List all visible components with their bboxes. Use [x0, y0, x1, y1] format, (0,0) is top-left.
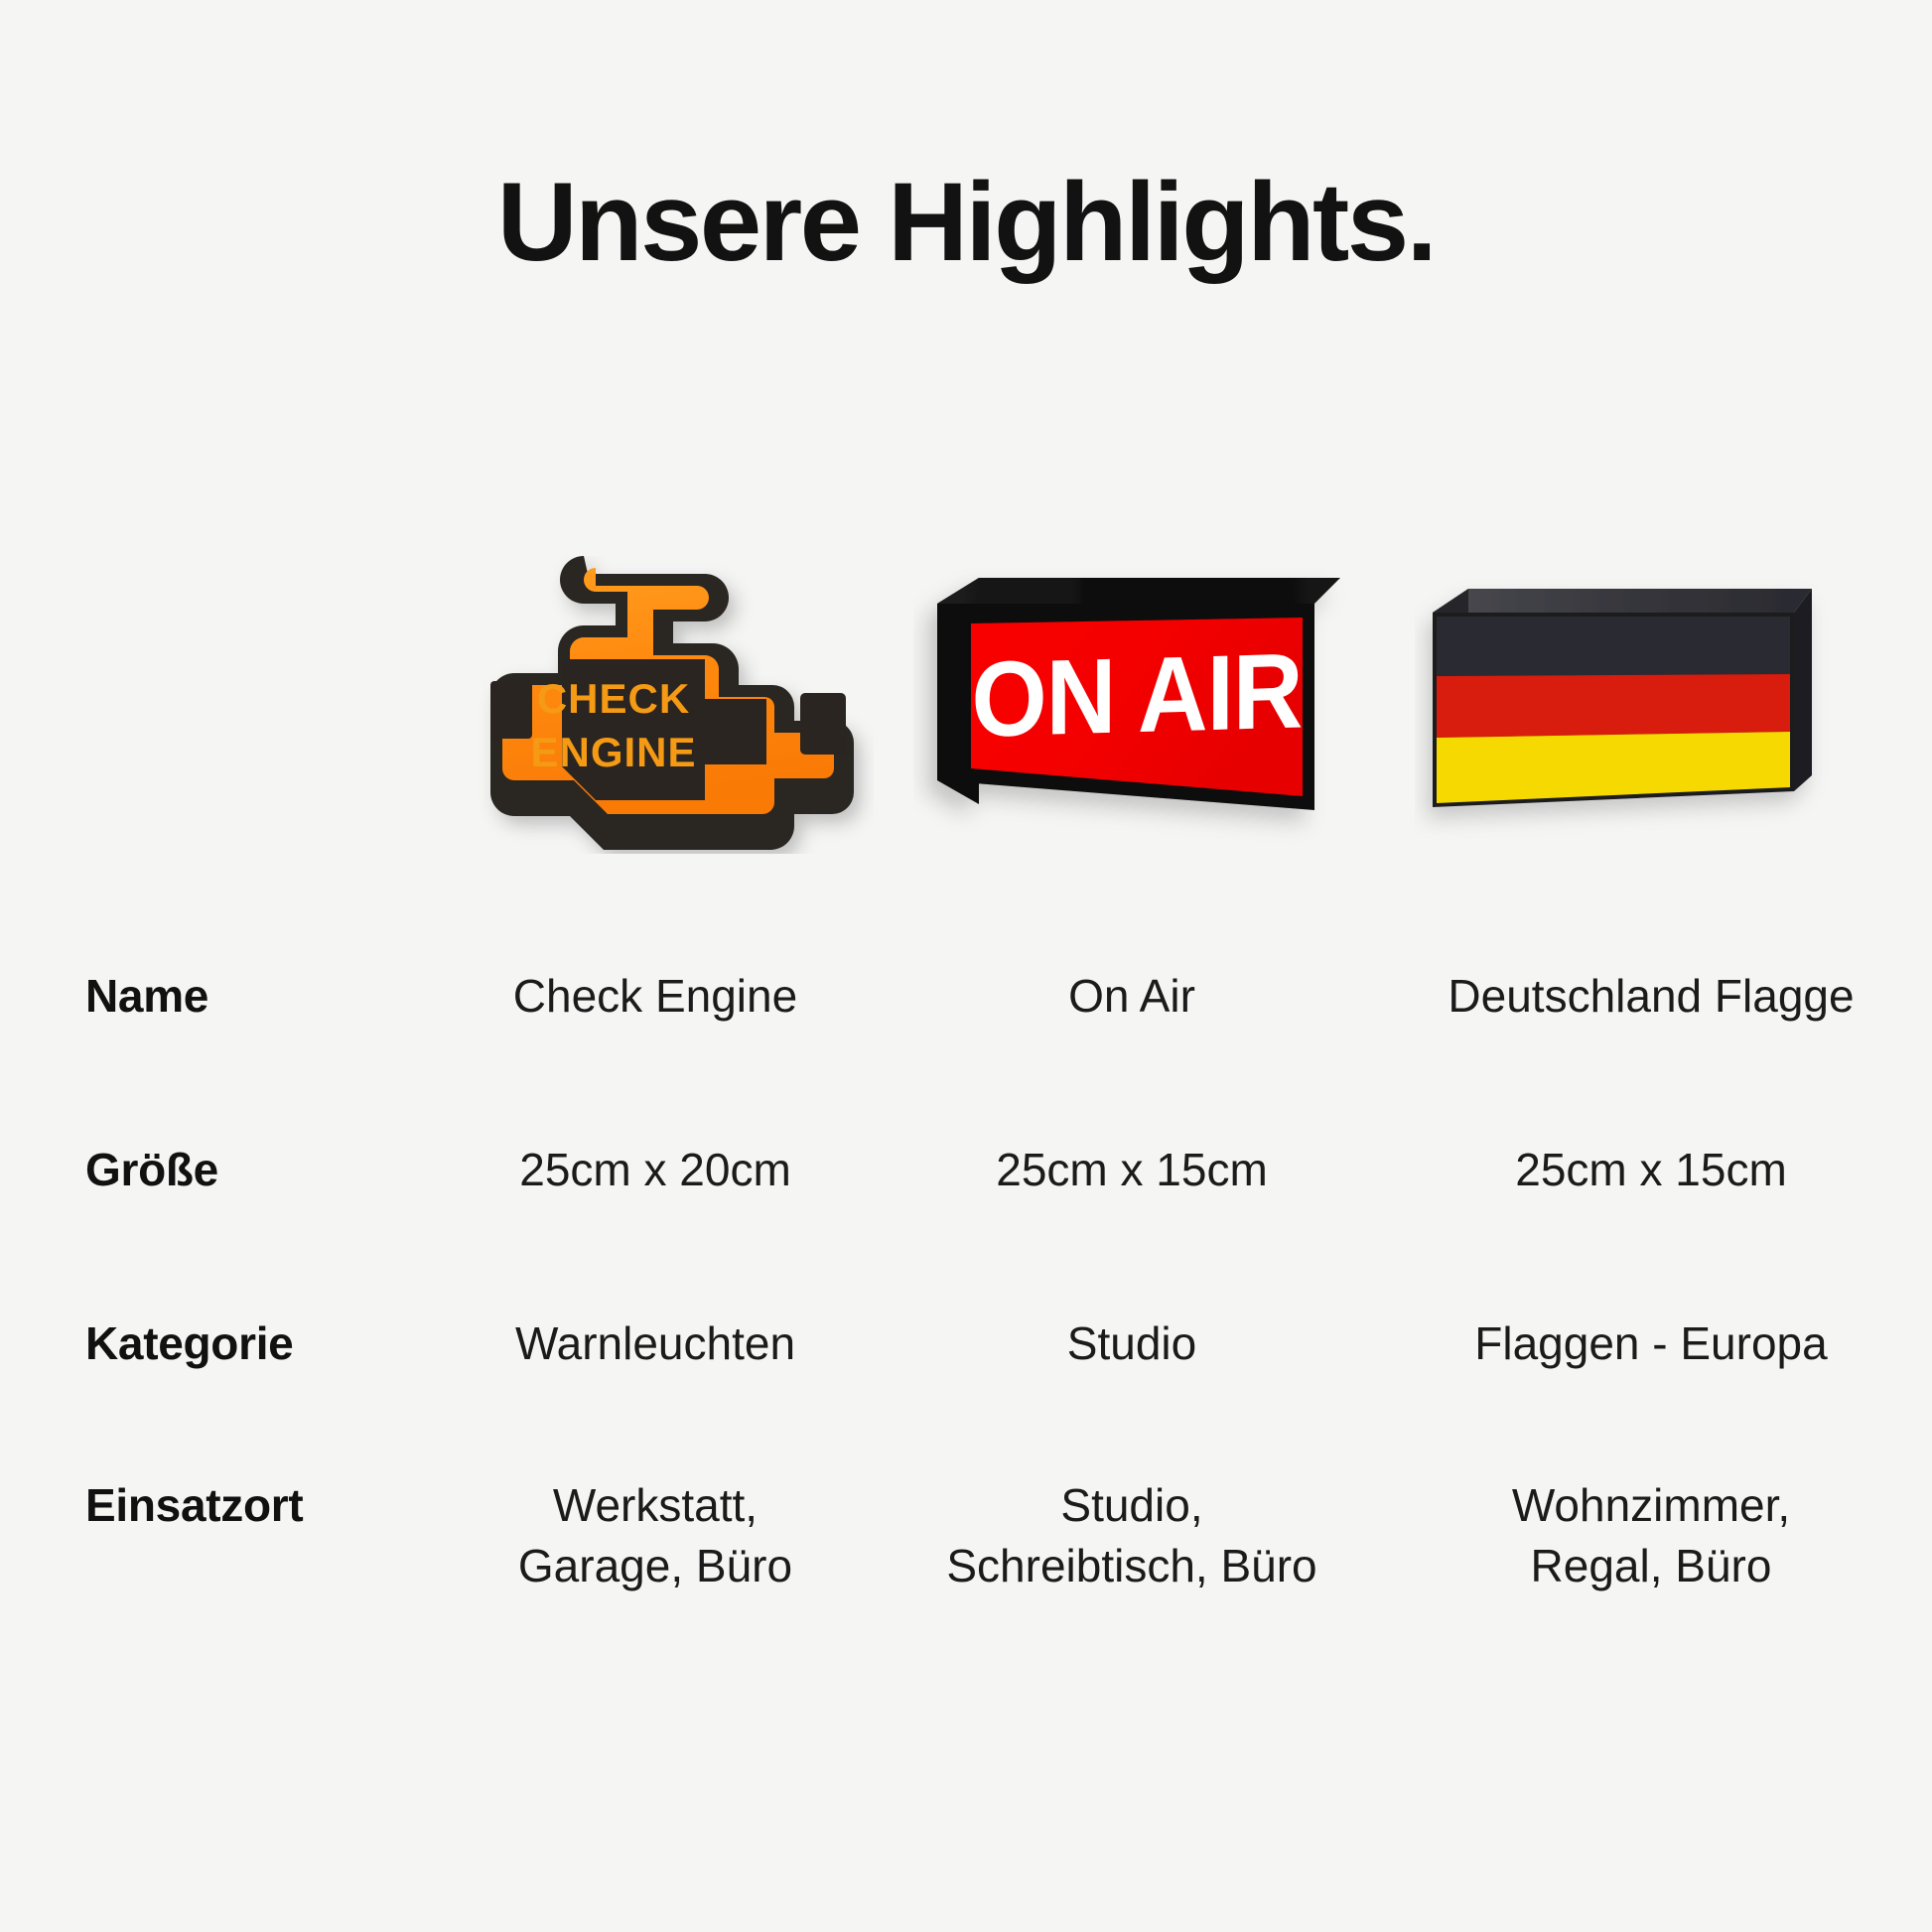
cell-einsatzort-check-engine: Werkstatt,Garage, Büro [417, 1449, 894, 1596]
table-row: Name Check Engine On Air Deutschland Fla… [0, 928, 1932, 1102]
cell-name-deutschland-flagge: Deutschland Flagge [1370, 928, 1932, 1027]
on-air-text: ON AIR [972, 630, 1303, 759]
table-row: Größe 25cm x 20cm 25cm x 15cm 25cm x 15c… [0, 1102, 1932, 1276]
product-image-strip: CHECK ENGINE [0, 526, 1932, 884]
cell-name-on-air: On Air [894, 928, 1370, 1027]
germany-flag-lightbox [1415, 561, 1832, 849]
table-row: Kategorie Warnleuchten Studio Flaggen - … [0, 1276, 1932, 1449]
cell-groesse-deutschland-flagge: 25cm x 15cm [1370, 1102, 1932, 1200]
check-engine-line2: ENGINE [530, 729, 696, 775]
row-label-einsatzort: Einsatzort [0, 1449, 417, 1536]
cell-kategorie-check-engine: Warnleuchten [417, 1276, 894, 1374]
row-label-groesse: Größe [0, 1102, 417, 1200]
page-title: Unsere Highlights. [0, 167, 1932, 278]
cell-groesse-check-engine: 25cm x 20cm [417, 1102, 894, 1200]
spec-table: Name Check Engine On Air Deutschland Fla… [0, 928, 1932, 1658]
row-label-kategorie: Kategorie [0, 1276, 417, 1374]
product-image-check-engine: CHECK ENGINE [417, 526, 913, 884]
row-label-name: Name [0, 928, 417, 1027]
cell-einsatzort-deutschland-flagge: Wohnzimmer,Regal, Büro [1370, 1449, 1932, 1596]
on-air-lightbox: ON AIR [913, 556, 1370, 854]
product-image-on-air: ON AIR [894, 526, 1390, 884]
cell-kategorie-on-air: Studio [894, 1276, 1370, 1374]
cell-name-check-engine: Check Engine [417, 928, 894, 1027]
cell-groesse-on-air: 25cm x 15cm [894, 1102, 1370, 1200]
cell-kategorie-deutschland-flagge: Flaggen - Europa [1370, 1276, 1932, 1374]
table-row: Einsatzort Werkstatt,Garage, Büro Studio… [0, 1449, 1932, 1658]
product-image-deutschland-flagge [1375, 526, 1871, 884]
check-engine-icon: CHECK ENGINE [457, 556, 874, 854]
check-engine-line1: CHECK [537, 675, 690, 722]
highlights-page: Unsere Highlights. [0, 0, 1932, 1932]
cell-einsatzort-on-air: Studio,Schreibtisch, Büro [894, 1449, 1370, 1596]
